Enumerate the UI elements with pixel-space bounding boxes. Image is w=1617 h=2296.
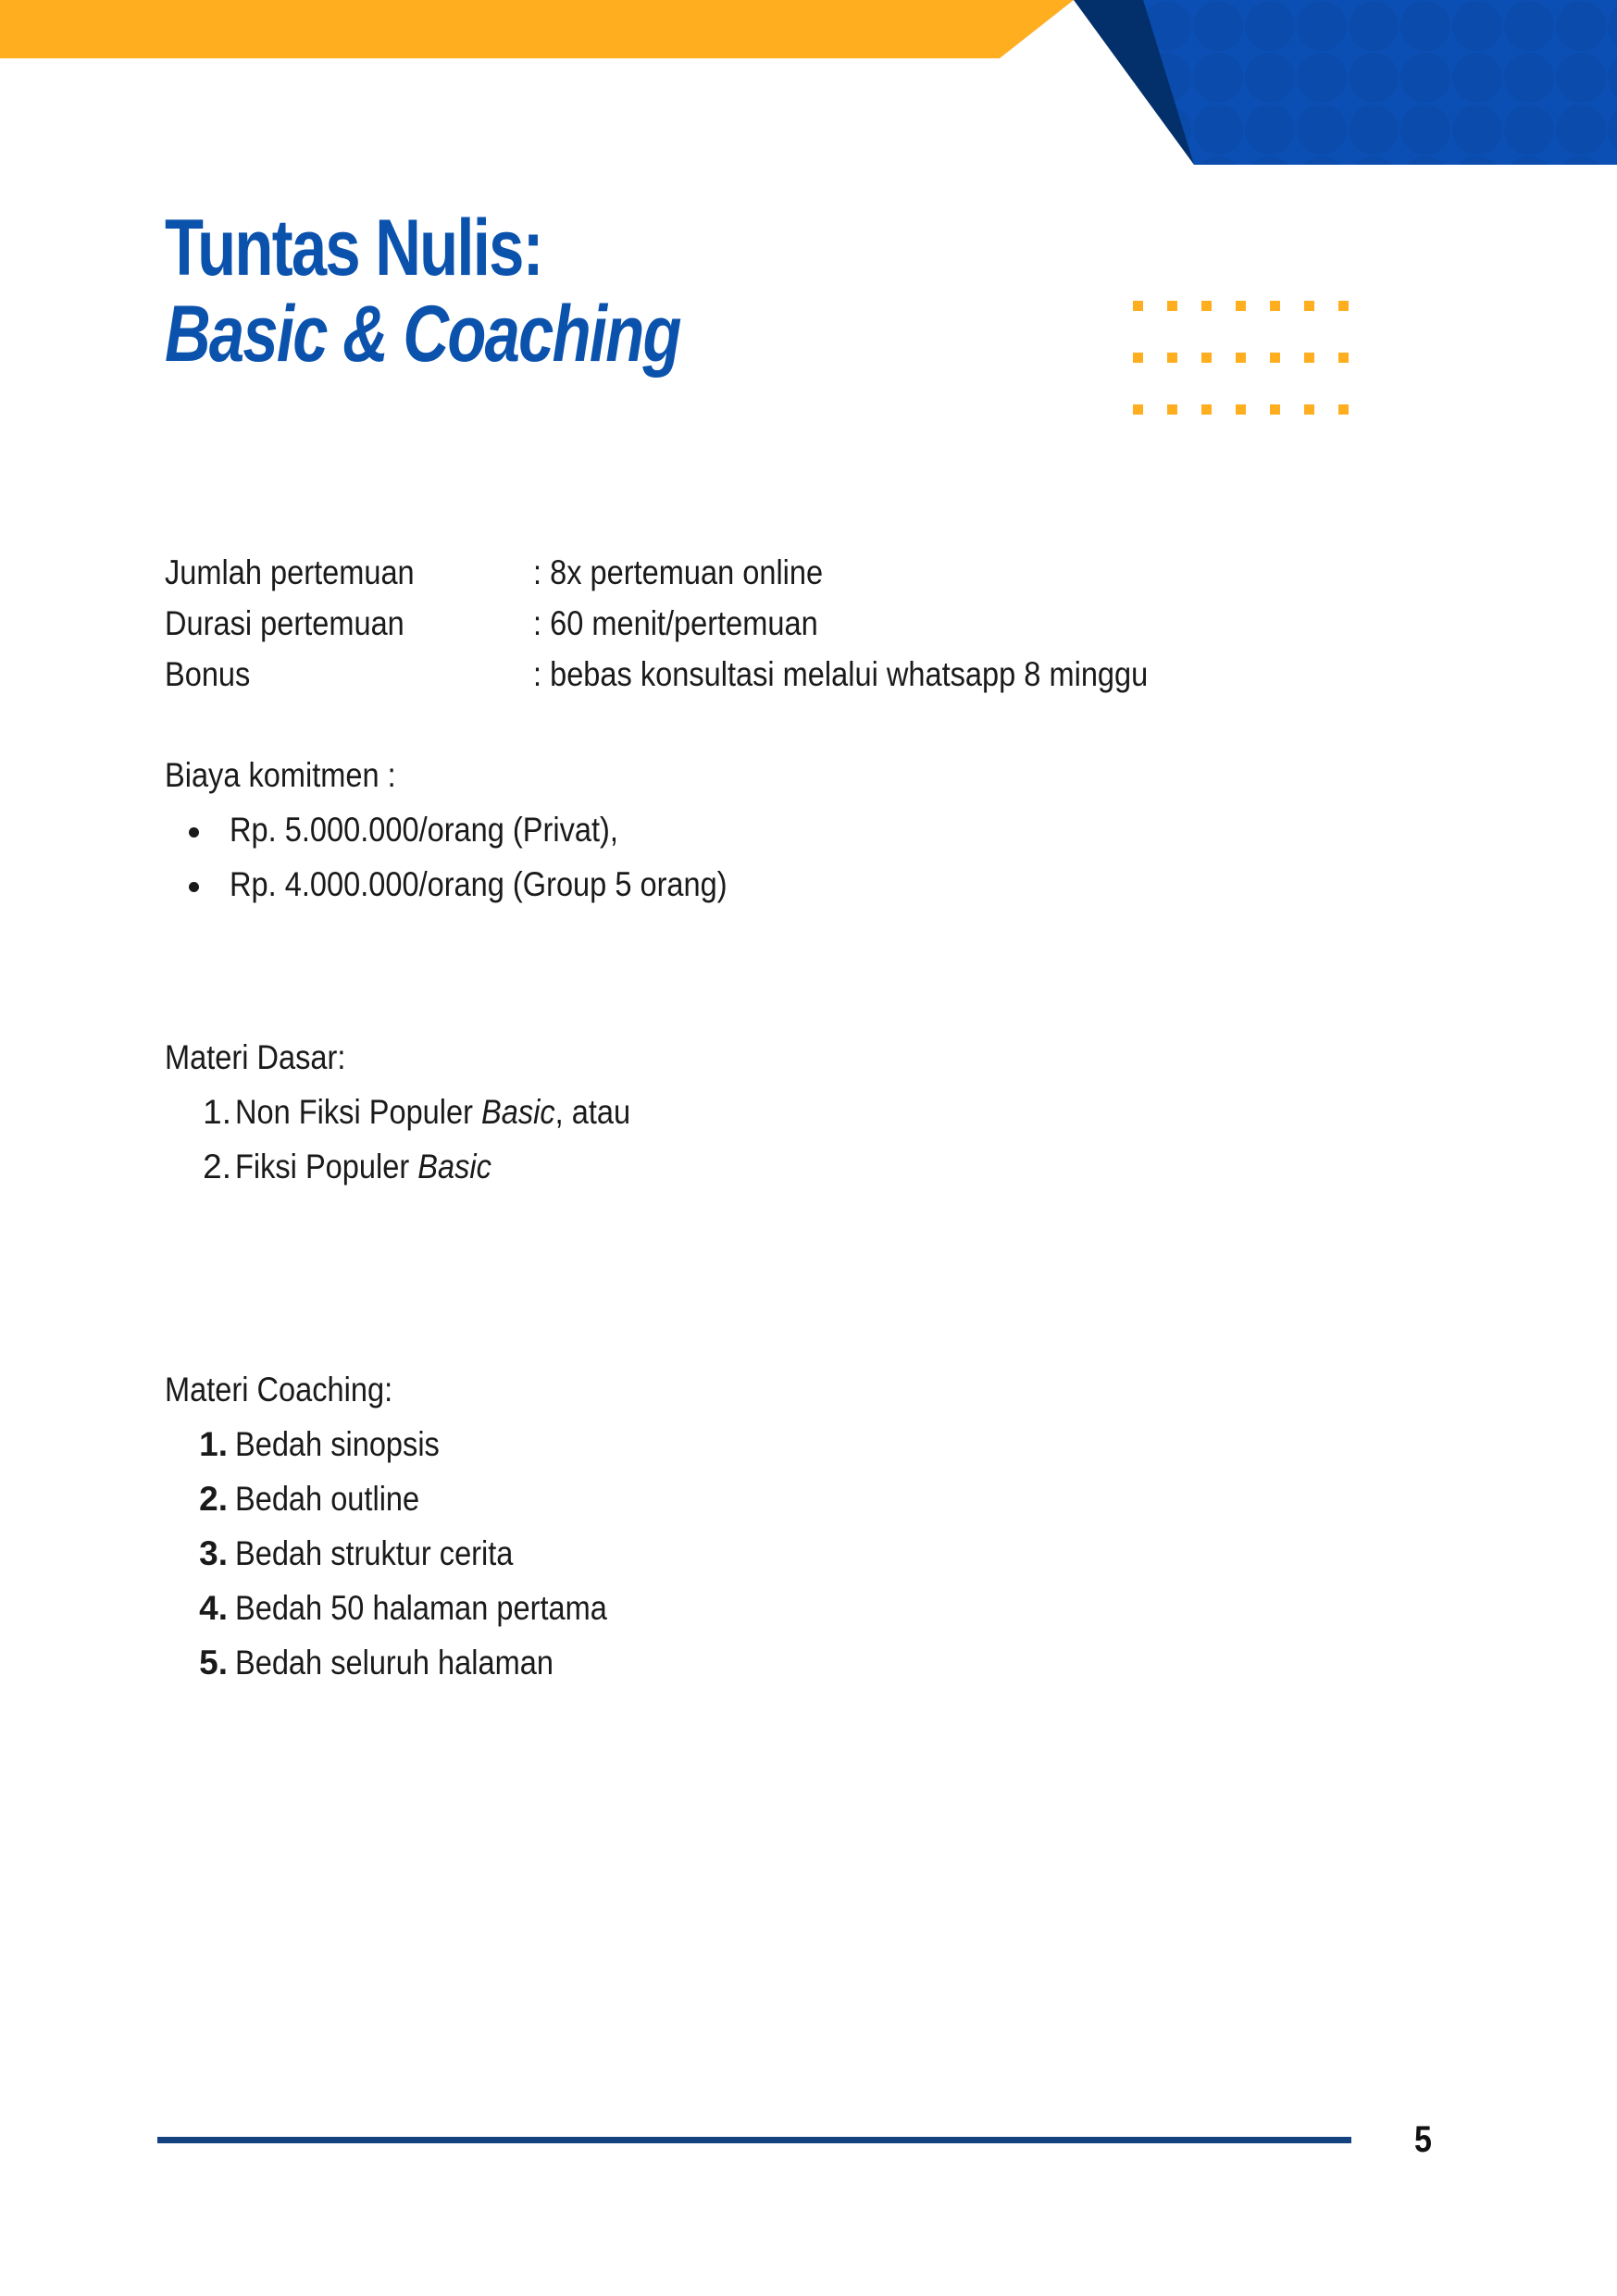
dot — [1270, 301, 1280, 311]
list-item: Bedah struktur cerita — [165, 1536, 1461, 1570]
dot — [1201, 404, 1212, 415]
page-footer: 5 — [157, 2119, 1462, 2161]
list-item: Rp. 5.000.000/orang (Privat), — [165, 813, 1461, 847]
list-item: Bedah 50 halaman pertama — [165, 1591, 1461, 1625]
dot — [1236, 301, 1246, 311]
meta-label: Jumlah pertemuan — [165, 555, 533, 606]
table-row: Durasi pertemuan : 60 menit/pertemuan — [165, 606, 1232, 657]
dot — [1304, 353, 1314, 363]
session-details-table: Jumlah pertemuan : 8x pertemuan online D… — [165, 555, 1232, 708]
meta-value: : 60 menit/pertemuan — [533, 606, 1232, 657]
meta-label: Durasi pertemuan — [165, 606, 533, 657]
meta-value: : bebas konsultasi melalui whatsapp 8 mi… — [533, 657, 1232, 708]
dot — [1167, 353, 1177, 363]
dot — [1304, 301, 1314, 311]
spacer — [165, 1204, 1461, 1322]
list-item-text: Fiksi Populer Basic — [235, 1149, 491, 1184]
materi-dasar-heading: Materi Dasar: — [165, 1040, 1461, 1074]
table-row: Bonus : bebas konsultasi melalui whatsap… — [165, 657, 1232, 708]
dot — [1201, 353, 1212, 363]
page-title: Tuntas Nulis: Basic & Coaching — [165, 205, 1090, 378]
dot — [1133, 301, 1143, 311]
spacer — [165, 922, 1461, 1040]
orange-dot-grid-decoration — [1133, 301, 1373, 456]
document-page: Tuntas Nulis: Basic & Coaching — [0, 0, 1617, 2296]
table-row: Jumlah pertemuan : 8x pertemuan online — [165, 555, 1232, 606]
footer-divider-line — [157, 2137, 1351, 2143]
spacer — [165, 1322, 1461, 1372]
dot — [1133, 353, 1143, 363]
dot — [1167, 301, 1177, 311]
dot — [1167, 404, 1177, 415]
body-content: Jumlah pertemuan : 8x pertemuan online D… — [165, 555, 1461, 1700]
dot — [1236, 353, 1246, 363]
dot — [1236, 404, 1246, 415]
list-item: Bedah outline — [165, 1482, 1461, 1516]
emphasis-basic: Basic — [481, 1093, 555, 1131]
list-item: Rp. 4.000.000/orang (Group 5 orang) — [165, 867, 1461, 901]
dot — [1304, 404, 1314, 415]
dot — [1338, 404, 1349, 415]
biaya-heading: Biaya komitmen : — [165, 758, 1461, 792]
dot — [1270, 353, 1280, 363]
list-item-text: Non Fiksi Populer Basic, atau — [235, 1095, 630, 1129]
meta-label: Bonus — [165, 657, 533, 708]
list-item: Non Fiksi Populer Basic, atau — [165, 1095, 1461, 1129]
materi-dasar-list: Non Fiksi Populer Basic, atau Fiksi Popu… — [165, 1095, 1461, 1184]
dot — [1270, 404, 1280, 415]
title-line-1: Tuntas Nulis: — [165, 205, 905, 292]
materi-coaching-list: Bedah sinopsis Bedah outline Bedah struk… — [165, 1427, 1461, 1680]
page-number: 5 — [1414, 2119, 1432, 2161]
list-item: Bedah sinopsis — [165, 1427, 1461, 1461]
dot — [1338, 353, 1349, 363]
list-item: Fiksi Populer Basic — [165, 1149, 1461, 1184]
emphasis-basic: Basic — [417, 1148, 491, 1185]
dot — [1338, 301, 1349, 311]
title-line-2: Basic & Coaching — [165, 292, 905, 378]
dot — [1133, 404, 1143, 415]
header-decoration — [0, 0, 1617, 185]
biaya-list: Rp. 5.000.000/orang (Privat), Rp. 4.000.… — [165, 813, 1461, 901]
blue-circle-texture — [1143, 0, 1617, 176]
materi-coaching-heading: Materi Coaching: — [165, 1372, 1461, 1407]
dot — [1201, 301, 1212, 311]
meta-value: : 8x pertemuan online — [533, 555, 1232, 606]
list-item: Bedah seluruh halaman — [165, 1645, 1461, 1680]
spacer — [165, 708, 1461, 758]
orange-band-shape — [0, 0, 1074, 58]
